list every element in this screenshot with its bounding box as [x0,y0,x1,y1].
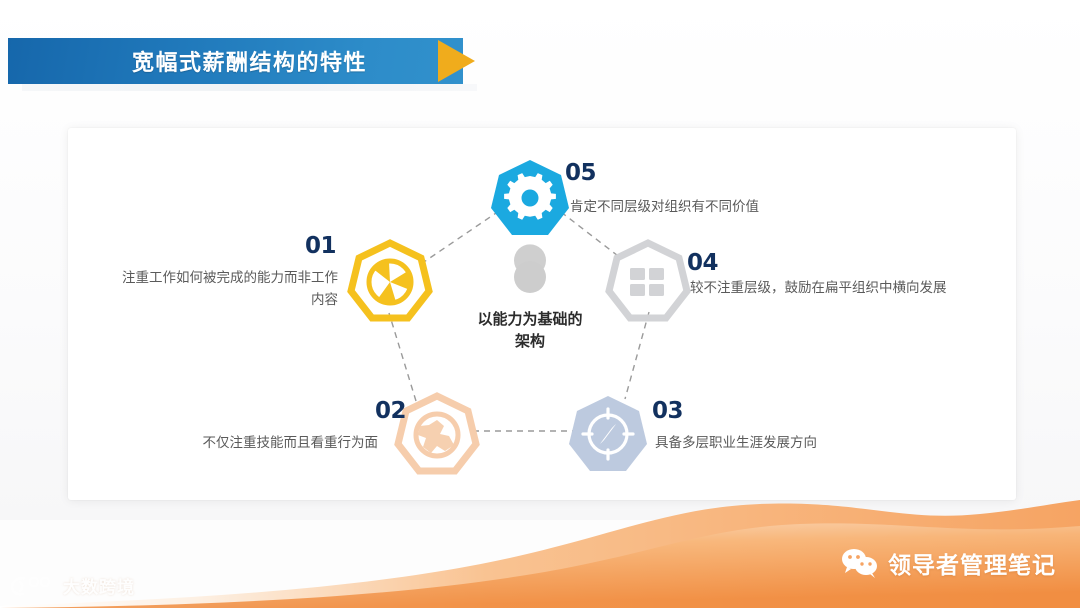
node-01-number: 01 [305,233,336,259]
node-05-description: 肯定不同层级对组织有不同价值 [570,196,900,218]
node-02-number: 02 [375,398,406,424]
page-title: 宽幅式薪酬结构的特性 [104,45,367,77]
center-label-line2: 架构 [440,332,620,354]
title-underline [22,84,477,91]
brand-mark-icon [10,575,56,597]
title-bar: 宽幅式薪酬结构的特性 [8,38,463,84]
node-04-number: 04 [687,250,718,276]
node-01-description: 注重工作如何被完成的能力而非工作内容 [110,267,338,312]
watermark-label: 大数跨境 [63,573,135,598]
wechat-label: 领导者管理笔记 [888,546,1056,580]
slide-canvas: 宽幅式薪酬结构的特性 [0,0,1080,608]
slide-title-banner: 宽幅式薪酬结构的特性 [8,38,463,84]
node-04-description: 较不注重层级，鼓励在扁平组织中横向发展 [690,277,952,299]
node-03-description: 具备多层职业生涯发展方向 [655,432,915,454]
node-03-number: 03 [652,398,683,424]
title-arrow-icon [438,40,475,82]
wechat-icon [841,548,879,578]
node-05-number: 05 [565,160,596,186]
center-label: 以能力为基础的 架构 [440,310,620,354]
wechat-badge: 领导者管理笔记 [841,546,1056,580]
watermark: 大数跨境 [10,573,135,598]
node-02-description: 不仅注重技能而且看重行为面 [150,432,378,454]
center-label-line1: 以能力为基础的 [440,310,620,332]
